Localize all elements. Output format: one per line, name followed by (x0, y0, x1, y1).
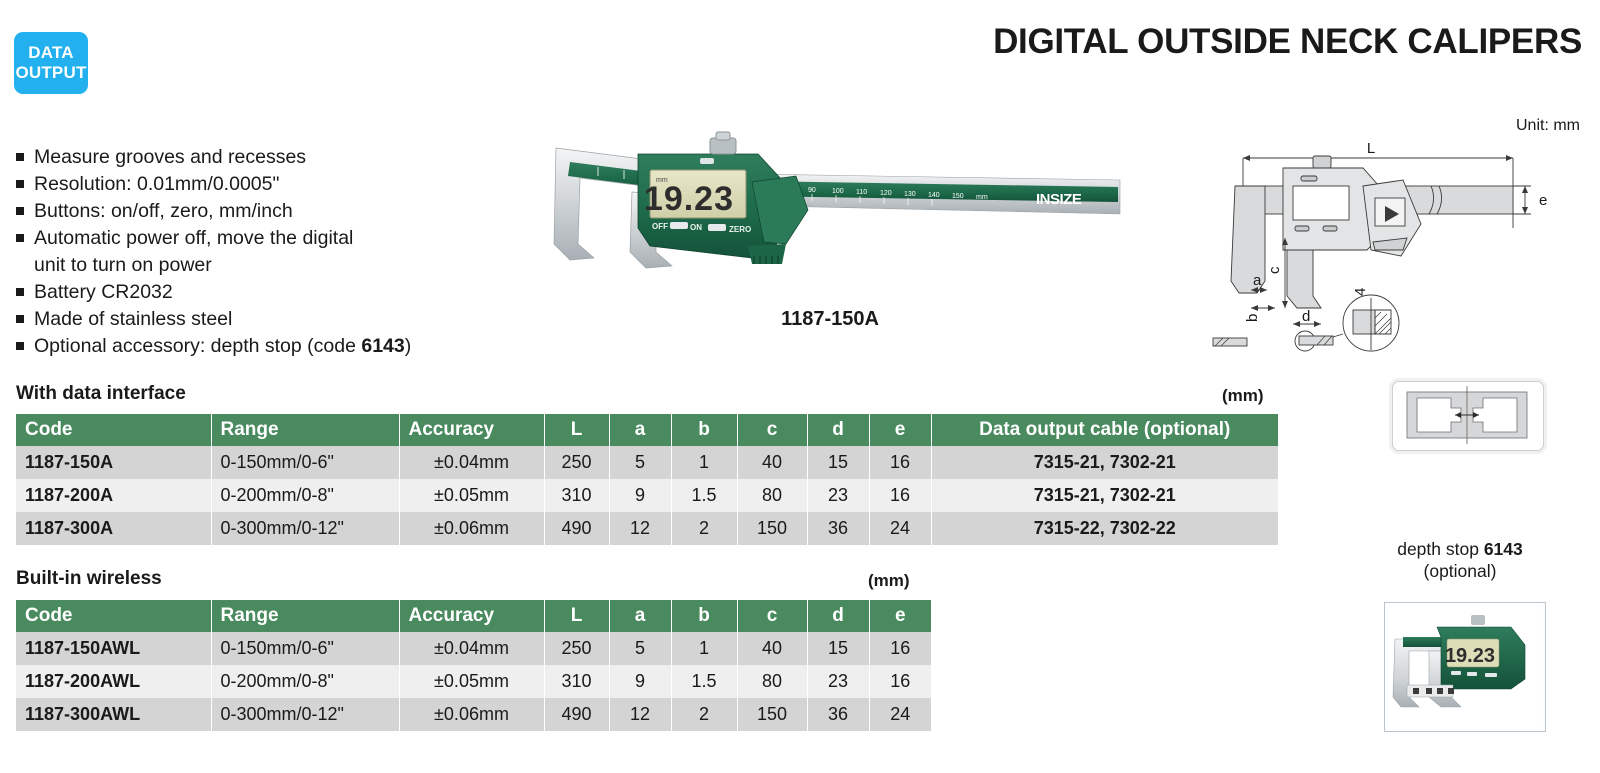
list-item: Resolution: 0.01mm/0.0005" (16, 171, 486, 198)
table-with-data-interface: Code Range Accuracy L a b c d e Data out… (16, 414, 1278, 545)
diagram-label-L: L (1367, 140, 1375, 157)
th-data-output-cable: Data output cable (optional) (931, 414, 1278, 446)
svg-text:100: 100 (832, 188, 844, 195)
table2-heading: Built-in wireless (16, 568, 162, 590)
list-item: Automatic power off, move the digital un… (16, 225, 486, 279)
svg-text:90: 90 (808, 187, 816, 194)
cell-c: 150 (737, 512, 807, 545)
product-photo-main: 19.23 mm OFF ON ZERO 90100110 120130140 … (520, 118, 1140, 298)
bullet-square-icon (16, 180, 24, 188)
table-row: 1187-200AWL 0-200mm/0-8" ±0.05mm 310 9 1… (16, 665, 931, 698)
accessory-code: 6143 (361, 335, 404, 357)
cell-accuracy: ±0.04mm (399, 446, 544, 479)
cell-d: 23 (807, 665, 869, 698)
feature-text: Battery CR2032 (34, 279, 173, 306)
table2-header-row: Code Range Accuracy L a b c d e (16, 600, 931, 632)
feature-text-accessory: Optional accessory: depth stop (code 614… (34, 333, 411, 360)
svg-text:mm: mm (656, 177, 668, 184)
table-row: 1187-150A 0-150mm/0-6" ±0.04mm 250 5 1 4… (16, 446, 1278, 479)
application-diagram (1392, 381, 1544, 451)
cell-L: 490 (544, 698, 609, 731)
svg-text:19.23: 19.23 (644, 180, 734, 218)
svg-text:ZERO: ZERO (729, 225, 751, 234)
list-item: Buttons: on/off, zero, mm/inch (16, 198, 486, 225)
table1-header-row: Code Range Accuracy L a b c d e Data out… (16, 414, 1278, 446)
accessory-caption: depth stop 6143 (optional) (1330, 538, 1590, 582)
bullet-square-icon (16, 207, 24, 215)
th-L: L (544, 600, 609, 632)
cell-d: 36 (807, 512, 869, 545)
list-item: Optional accessory: depth stop (code 614… (16, 333, 486, 360)
cell-L: 310 (544, 479, 609, 512)
cell-range: 0-200mm/0-8" (211, 665, 399, 698)
cell-accuracy: ±0.06mm (399, 698, 544, 731)
th-code: Code (16, 600, 211, 632)
cell-accuracy: ±0.05mm (399, 665, 544, 698)
cell-L: 250 (544, 446, 609, 479)
cell-e: 16 (869, 479, 931, 512)
cell-code: 1187-300A (16, 512, 211, 545)
feature-text: Measure grooves and recesses (34, 144, 306, 171)
cell-b: 2 (671, 698, 737, 731)
th-range: Range (211, 600, 399, 632)
technical-diagram: L e a b c d 4 (1195, 138, 1595, 353)
diagram-label-c: c (1266, 266, 1283, 274)
diagram-label-a: a (1253, 272, 1262, 289)
feature-list: Measure grooves and recesses Resolution:… (16, 144, 486, 360)
cell-c: 80 (737, 665, 807, 698)
cell-b: 1.5 (671, 479, 737, 512)
th-L: L (544, 414, 609, 446)
bullet-square-icon (16, 288, 24, 296)
th-range: Range (211, 414, 399, 446)
cell-a: 5 (609, 632, 671, 665)
cell-range: 0-300mm/0-12" (211, 698, 399, 731)
svg-text:120: 120 (880, 190, 892, 197)
accessory-caption-line1: depth stop 6143 (1330, 538, 1590, 560)
th-accuracy: Accuracy (399, 414, 544, 446)
cell-code: 1187-200A (16, 479, 211, 512)
cell-a: 12 (609, 512, 671, 545)
cell-b: 1.5 (671, 665, 737, 698)
badge-line-2: OUTPUT (15, 63, 86, 83)
accessory-caption-line2: (optional) (1330, 560, 1590, 582)
cell-accuracy: ±0.06mm (399, 512, 544, 545)
svg-text:130: 130 (904, 191, 916, 198)
th-e: e (869, 414, 931, 446)
table-row: 1187-200A 0-200mm/0-8" ±0.05mm 310 9 1.5… (16, 479, 1278, 512)
cell-code: 1187-300AWL (16, 698, 211, 731)
feature-text: Buttons: on/off, zero, mm/inch (34, 198, 293, 225)
list-item: Measure grooves and recesses (16, 144, 486, 171)
bullet-square-icon (16, 153, 24, 161)
th-a: a (609, 600, 671, 632)
th-e: e (869, 600, 931, 632)
feature-text: Resolution: 0.01mm/0.0005" (34, 171, 279, 198)
cell-code: 1187-200AWL (16, 665, 211, 698)
cell-range: 0-150mm/0-6" (211, 632, 399, 665)
cell-c: 80 (737, 479, 807, 512)
cell-e: 16 (869, 632, 931, 665)
cell-d: 15 (807, 632, 869, 665)
th-b: b (671, 414, 737, 446)
cell-L: 310 (544, 665, 609, 698)
cell-L: 490 (544, 512, 609, 545)
feature-text: Automatic power off, move the digital un… (34, 225, 353, 279)
th-d: d (807, 600, 869, 632)
svg-text:140: 140 (928, 192, 940, 199)
diagram-label-detail: 4 (1352, 288, 1369, 296)
cell-code: 1187-150A (16, 446, 211, 479)
cell-a: 5 (609, 446, 671, 479)
badge-line-1: DATA (28, 43, 74, 63)
cell-accuracy: ±0.04mm (399, 632, 544, 665)
cell-b: 2 (671, 512, 737, 545)
svg-text:150: 150 (952, 193, 964, 200)
accessory-photo: 19.23 (1384, 602, 1546, 732)
diagram-label-b: b (1244, 314, 1261, 322)
th-c: c (737, 414, 807, 446)
table-row: 1187-150AWL 0-150mm/0-6" ±0.04mm 250 5 1… (16, 632, 931, 665)
svg-text:INSIZE: INSIZE (1036, 191, 1082, 208)
table2-unit-label: (mm) (868, 571, 910, 591)
svg-text:ON: ON (690, 223, 702, 232)
table1-unit-label: (mm) (1222, 386, 1264, 406)
th-accuracy: Accuracy (399, 600, 544, 632)
data-output-badge: DATA OUTPUT (14, 32, 88, 94)
cell-d: 15 (807, 446, 869, 479)
svg-text:OFF: OFF (652, 222, 668, 231)
cell-e: 16 (869, 665, 931, 698)
cell-d: 23 (807, 479, 869, 512)
cell-L: 250 (544, 632, 609, 665)
cell-b: 1 (671, 632, 737, 665)
list-item: Made of stainless steel (16, 306, 486, 333)
table1-heading: With data interface (16, 383, 186, 405)
list-item: Battery CR2032 (16, 279, 486, 306)
page-title: DIGITAL OUTSIDE NECK CALIPERS (993, 22, 1582, 62)
cell-range: 0-200mm/0-8" (211, 479, 399, 512)
cell-cable: 7315-21, 7302-21 (931, 479, 1278, 512)
cell-accuracy: ±0.05mm (399, 479, 544, 512)
cell-cable: 7315-21, 7302-21 (931, 446, 1278, 479)
diagram-label-d: d (1302, 308, 1310, 325)
cell-d: 36 (807, 698, 869, 731)
table-built-in-wireless: Code Range Accuracy L a b c d e 1187-150… (16, 600, 931, 731)
product-photo-caption: 1187-150A (520, 308, 1140, 331)
cell-range: 0-300mm/0-12" (211, 512, 399, 545)
diagram-label-e: e (1539, 192, 1547, 209)
cell-c: 150 (737, 698, 807, 731)
cell-e: 24 (869, 698, 931, 731)
th-c: c (737, 600, 807, 632)
cell-e: 24 (869, 512, 931, 545)
feature-text: Made of stainless steel (34, 306, 232, 333)
th-code: Code (16, 414, 211, 446)
th-d: d (807, 414, 869, 446)
bullet-square-icon (16, 342, 24, 350)
accessory-caption-code: 6143 (1484, 539, 1523, 559)
cell-c: 40 (737, 446, 807, 479)
cell-range: 0-150mm/0-6" (211, 446, 399, 479)
svg-text:110: 110 (856, 189, 867, 196)
table-row: 1187-300AWL 0-300mm/0-12" ±0.06mm 490 12… (16, 698, 931, 731)
svg-text:mm: mm (976, 194, 988, 201)
cell-cable: 7315-22, 7302-22 (931, 512, 1278, 545)
cell-e: 16 (869, 446, 931, 479)
bullet-square-icon (16, 234, 24, 242)
bullet-square-icon (16, 315, 24, 323)
cell-a: 9 (609, 665, 671, 698)
th-b: b (671, 600, 737, 632)
cell-code: 1187-150AWL (16, 632, 211, 665)
th-a: a (609, 414, 671, 446)
unit-note: Unit: mm (1516, 117, 1580, 135)
svg-text:19.23: 19.23 (1445, 645, 1495, 667)
table-row: 1187-300A 0-300mm/0-12" ±0.06mm 490 12 2… (16, 512, 1278, 545)
cell-a: 9 (609, 479, 671, 512)
cell-c: 40 (737, 632, 807, 665)
cell-a: 12 (609, 698, 671, 731)
cell-b: 1 (671, 446, 737, 479)
